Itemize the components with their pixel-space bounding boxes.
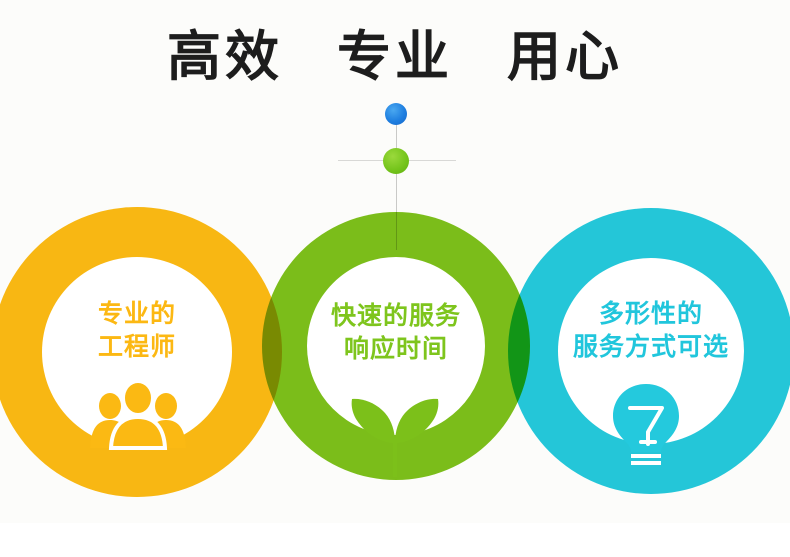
- people-group-icon: [86, 386, 190, 448]
- blue-dot-icon: [385, 103, 407, 125]
- circle-service-modes-text: 多形性的 服务方式可选: [540, 298, 762, 363]
- title-segment-2: 专业: [337, 26, 453, 88]
- sprout-leaf-icon: [330, 385, 460, 477]
- circle-response-time-line-2: 响应时间: [300, 333, 492, 366]
- circle-engineers-line-1: 专业的: [42, 298, 232, 331]
- circle-response-time-text: 快速的服务 响应时间: [300, 300, 492, 365]
- circle-service-modes-content: 多形性的 服务方式可选: [540, 298, 762, 363]
- paper-background-bottom: [0, 523, 790, 557]
- lightbulb-icon: [600, 382, 692, 466]
- green-dot-icon: [383, 148, 409, 174]
- poster-canvas: 高效专业用心 专业的 工程师 快速的服务 响应时间 多形性的 服务方式可选: [0, 0, 790, 557]
- circle-engineers-content: 专业的 工程师: [42, 298, 232, 363]
- circle-engineers-text: 专业的 工程师: [42, 298, 232, 363]
- page-title: 高效专业用心: [0, 26, 790, 88]
- circle-service-modes-line-1: 多形性的: [540, 298, 762, 331]
- title-segment-3: 用心: [507, 26, 623, 88]
- title-segment-1: 高效: [167, 26, 283, 88]
- circle-service-modes-line-2: 服务方式可选: [540, 331, 762, 364]
- circle-response-time-content: 快速的服务 响应时间: [300, 300, 492, 365]
- circle-engineers-line-2: 工程师: [42, 331, 232, 364]
- circle-response-time-line-1: 快速的服务: [300, 300, 492, 333]
